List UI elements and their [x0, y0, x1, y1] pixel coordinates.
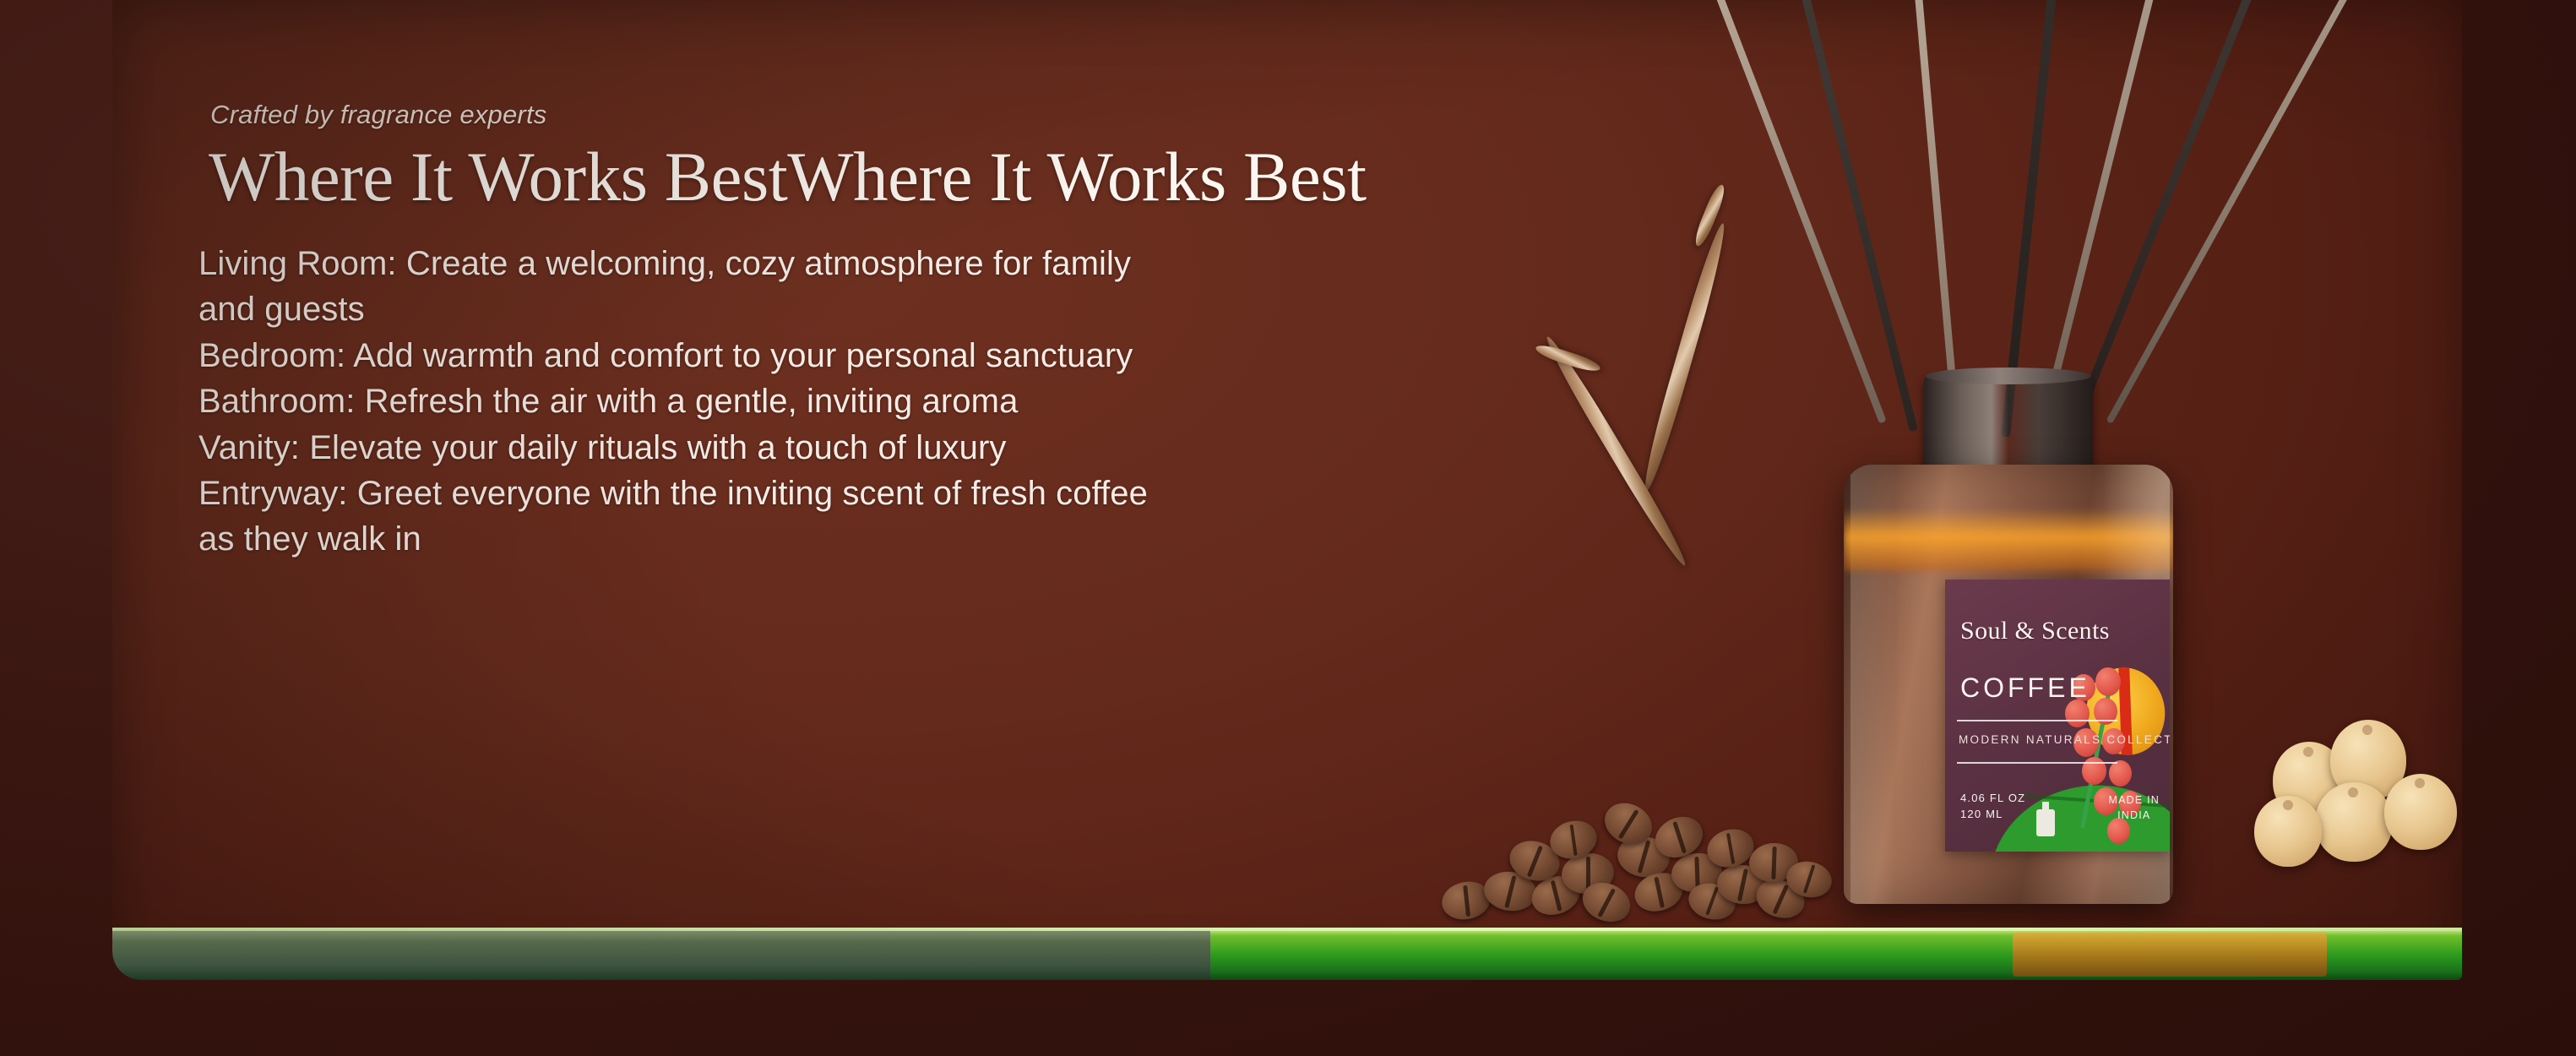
eyebrow-text: Crafted by fragrance experts — [210, 100, 1685, 130]
label-collection: MODERN NATURALS COLLECTION — [1959, 733, 2170, 746]
coffee-cherry-icon — [2082, 757, 2106, 785]
reed-stick-icon — [2070, 0, 2282, 428]
diffuser-vial-icon — [2036, 809, 2055, 836]
page-title: Where It Works BestWhere It Works Best — [209, 142, 1685, 212]
hero-panel: Soul & Scents COFFEE MODERN NATURALS COL… — [112, 0, 2462, 980]
label-size-metric: 120 ML — [1960, 807, 2025, 823]
label-origin-line1: MADE IN — [2109, 792, 2160, 808]
coffee-bean-pile — [1438, 792, 1835, 928]
list-item: Bathroom: Refresh the air with a gentle,… — [198, 378, 1153, 424]
list-item: Bedroom: Add warmth and comfort to your … — [198, 333, 1153, 378]
hazelnut-icon — [2254, 796, 2322, 867]
list-item: Living Room: Create a welcoming, cozy at… — [198, 241, 1153, 333]
label-divider-top — [1957, 720, 2117, 721]
hazelnut-icon — [2315, 782, 2393, 862]
diffuser-cap — [1924, 374, 2093, 474]
hazelnut-icon — [2384, 774, 2457, 850]
label-divider-bottom — [1957, 762, 2117, 764]
label-variant: COFFEE — [1960, 672, 2090, 704]
list-item: Entryway: Greet everyone with the inviti… — [198, 471, 1153, 563]
label-brand: Soul & Scents — [1960, 617, 2110, 645]
hero-copy: Crafted by fragrance experts Where It Wo… — [198, 100, 1685, 563]
usage-list: Living Room: Create a welcoming, cozy at… — [198, 241, 1685, 563]
label-origin: MADE IN INDIA — [2109, 792, 2160, 823]
label-size-imperial: 4.06 FL OZ — [1960, 791, 2025, 807]
shelf-top-highlight — [112, 928, 2462, 931]
reed-stick-icon — [2106, 0, 2367, 424]
shelf-amber-pool — [2013, 933, 2327, 977]
label-size: 4.06 FL OZ 120 ML — [1960, 791, 2025, 823]
label-origin-line2: INDIA — [2109, 808, 2160, 823]
product-label: Soul & Scents COFFEE MODERN NATURALS COL… — [1945, 580, 2170, 852]
coffee-cherry-icon — [2095, 667, 2121, 696]
glass-shelf — [112, 928, 2462, 980]
list-item: Vanity: Elevate your daily rituals with … — [198, 425, 1153, 471]
hero-banner: Soul & Scents COFFEE MODERN NATURALS COL… — [0, 0, 2576, 1056]
coffee-cherry-icon — [2109, 760, 2132, 787]
reed-stick-icon — [1771, 0, 1918, 432]
